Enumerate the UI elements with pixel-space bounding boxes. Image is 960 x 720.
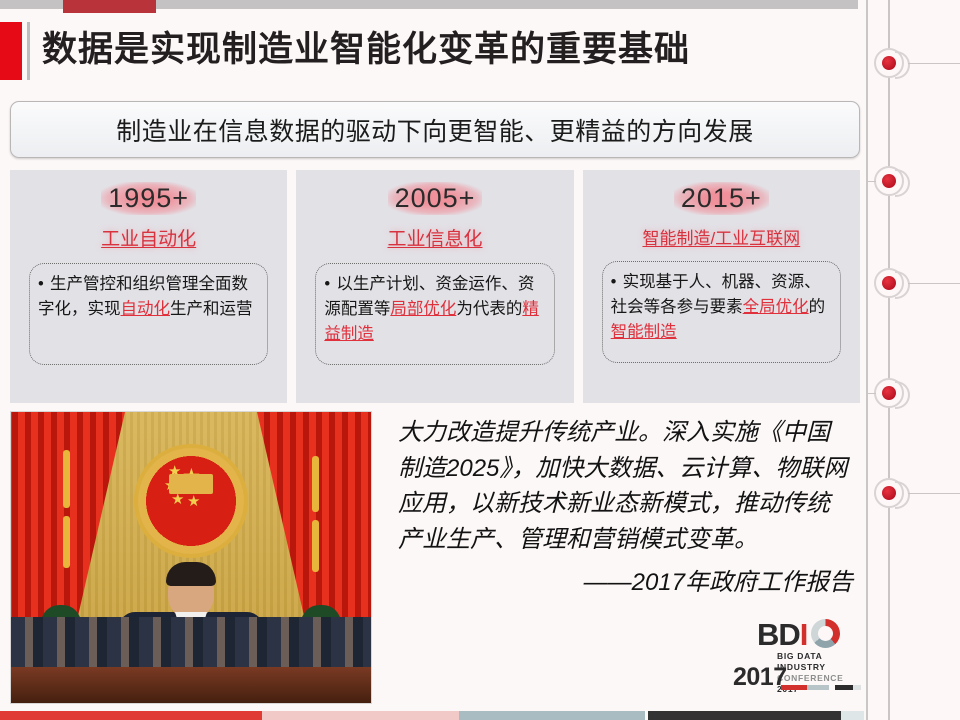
dot-arc bbox=[895, 51, 910, 79]
subtitle-banner: 制造业在信息数据的驱动下向更智能、更精益的方向发展 bbox=[10, 101, 860, 158]
page-title: 数据是实现制造业智能化变革的重要基础 bbox=[42, 20, 690, 80]
logo-bar-light bbox=[853, 685, 861, 690]
era-description: •实现基于人、机器、资源、社会等各参与要素全局优化的智能制造 bbox=[602, 261, 841, 363]
rail-vertical-line bbox=[888, 0, 890, 720]
logo-bar-blue bbox=[807, 685, 829, 690]
top-red-tab bbox=[63, 0, 156, 13]
photo-tassel bbox=[63, 450, 70, 508]
photo-audience bbox=[11, 617, 371, 669]
era-name-label: 工业信息化 bbox=[387, 224, 482, 251]
era-text-0-1: 自动化 bbox=[121, 300, 171, 318]
logo-bar-decor bbox=[781, 685, 861, 690]
strip-segment-red bbox=[0, 711, 262, 720]
quote-source: ——2017年政府工作报告 bbox=[398, 565, 853, 601]
strip-segment-pinkred bbox=[262, 711, 459, 720]
era-name-label: 智能制造/工业互联网 bbox=[642, 224, 800, 249]
logo-sub-line2: CONFERENCE 2017 bbox=[777, 673, 861, 695]
bottom-color-strip bbox=[0, 711, 864, 720]
star-icon: ★ bbox=[187, 494, 200, 509]
photo-tassel bbox=[312, 520, 319, 572]
strip-segment-light bbox=[841, 711, 864, 720]
era-column-2005: 2005+ 工业信息化 •以生产计划、资金运作、资源配置等局部优化为代表的精益制… bbox=[296, 170, 573, 403]
rail-connector-5 bbox=[908, 493, 960, 494]
logo-year: 2017 bbox=[733, 663, 787, 692]
era-name-label: 工业自动化 bbox=[101, 224, 196, 251]
rail-connector-2 bbox=[866, 181, 876, 182]
photo-tassel bbox=[312, 456, 319, 512]
rail-marker-dot-3[interactable] bbox=[874, 268, 904, 298]
government-report-photo: ★ ★ ★ ★ ★ bbox=[10, 411, 372, 704]
quote-text: 大力改造提升传统产业。深入实施《中国制造2025》，加快大数据、云计算、物联网应… bbox=[398, 415, 853, 557]
bullet-icon: • bbox=[611, 270, 623, 295]
dot-arc bbox=[895, 481, 910, 509]
era-text-2-1: 全局优化 bbox=[743, 298, 809, 316]
dot-arc bbox=[895, 169, 910, 197]
bullet-icon: • bbox=[38, 272, 50, 297]
era-year-label: 2005+ bbox=[388, 182, 483, 215]
era-description: •生产管控和组织管理全面数字化，实现自动化生产和运营 bbox=[29, 263, 268, 365]
logo-i-text: I bbox=[800, 619, 808, 650]
dot-arc bbox=[895, 381, 910, 409]
national-emblem-icon: ★ ★ ★ ★ ★ bbox=[138, 448, 244, 554]
slide-canvas: 数据是实现制造业智能化变革的重要基础 制造业在信息数据的驱动下向更智能、更精益的… bbox=[0, 0, 960, 720]
era-text-1-1: 局部优化 bbox=[390, 300, 456, 318]
title-row: 数据是实现制造业智能化变革的重要基础 bbox=[0, 22, 850, 84]
rail-left-border bbox=[866, 0, 868, 720]
rail-marker-dot-2[interactable] bbox=[874, 166, 904, 196]
rail-marker-dot-4[interactable] bbox=[874, 378, 904, 408]
quote-block: 大力改造提升传统产业。深入实施《中国制造2025》，加快大数据、云计算、物联网应… bbox=[398, 415, 853, 601]
right-rail bbox=[866, 0, 960, 720]
star-icon: ★ bbox=[171, 492, 184, 507]
rail-connector-4 bbox=[866, 393, 876, 394]
dot-core bbox=[882, 56, 896, 70]
era-column-2015: 2015+ 智能制造/工业互联网 •实现基于人、机器、资源、社会等各参与要素全局… bbox=[583, 170, 860, 403]
photo-tassel bbox=[63, 516, 70, 568]
era-year-label: 2015+ bbox=[674, 182, 769, 215]
dot-arc bbox=[895, 271, 910, 299]
dot-core bbox=[882, 174, 896, 188]
subtitle-text: 制造业在信息数据的驱动下向更智能、更精益的方向发展 bbox=[116, 112, 754, 148]
rail-connector-3 bbox=[908, 283, 960, 284]
photo-speaker-hair bbox=[166, 562, 216, 586]
rail-connector-1 bbox=[908, 63, 960, 64]
tiananmen-gate-shape bbox=[169, 474, 213, 494]
logo-sub-conference: CONFERENCE bbox=[777, 673, 844, 683]
dot-core bbox=[882, 486, 896, 500]
era-text-2-3: 智能制造 bbox=[611, 323, 677, 341]
title-divider bbox=[27, 22, 30, 80]
era-description: •以生产计划、资金运作、资源配置等局部优化为代表的精益制造 bbox=[315, 263, 554, 365]
era-text-2-2: 的 bbox=[809, 298, 826, 316]
logo-wordmark: BDI bbox=[757, 617, 807, 651]
logo-sub-line1: BIG DATA INDUSTRY bbox=[777, 651, 861, 673]
era-text-1-2: 为代表的 bbox=[456, 300, 522, 318]
strip-segment-dark bbox=[648, 711, 841, 720]
era-year-label: 1995+ bbox=[101, 182, 196, 215]
era-columns: 1995+ 工业自动化 •生产管控和组织管理全面数字化，实现自动化生产和运营 2… bbox=[10, 170, 860, 403]
dot-core bbox=[882, 276, 896, 290]
logo-bar-red bbox=[781, 685, 807, 690]
bullet-icon: • bbox=[324, 272, 336, 297]
dot-core bbox=[882, 386, 896, 400]
title-accent-block bbox=[0, 22, 22, 80]
logo-bar-dark bbox=[835, 685, 853, 690]
era-text-0-2: 生产和运营 bbox=[170, 300, 253, 318]
bdic-logo: BDI BIG DATA INDUSTRY CONFERENCE 2017 20… bbox=[733, 617, 861, 695]
rail-marker-dot-1[interactable] bbox=[874, 48, 904, 78]
logo-bd-text: BD bbox=[757, 619, 800, 650]
photo-podium-desk bbox=[11, 667, 371, 703]
logo-circle-icon bbox=[811, 619, 840, 648]
era-column-1995: 1995+ 工业自动化 •生产管控和组织管理全面数字化，实现自动化生产和运营 bbox=[10, 170, 287, 403]
rail-marker-dot-5[interactable] bbox=[874, 478, 904, 508]
strip-segment-blue bbox=[459, 711, 645, 720]
